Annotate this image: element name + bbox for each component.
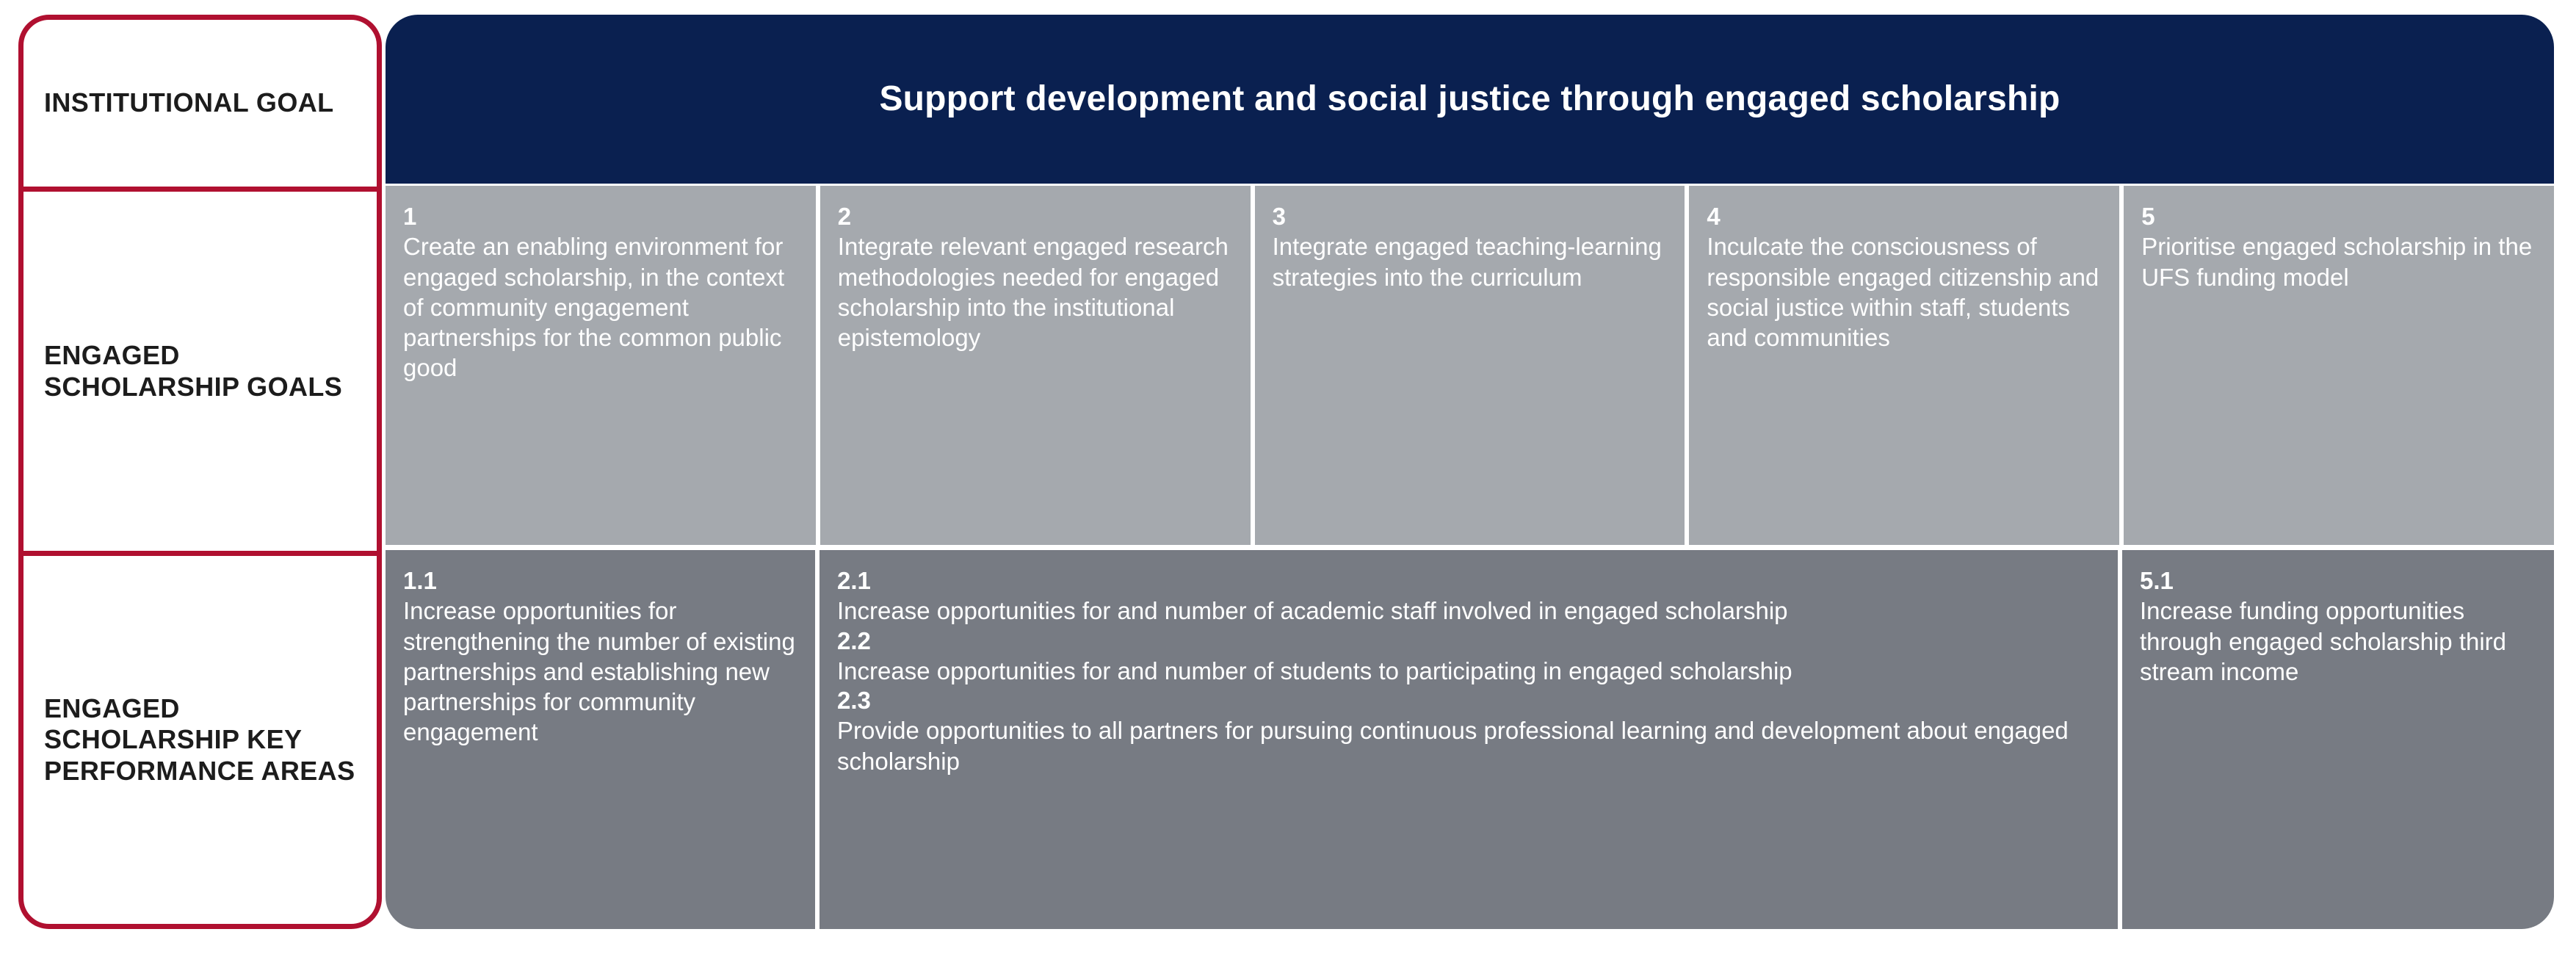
row-label-divider-bottom [18, 551, 382, 556]
kpa-description-5-1: Increase funding opportunities through e… [2140, 596, 2538, 687]
kpa-item-5-1: 5.1 Increase funding opportunities throu… [2140, 566, 2538, 687]
goal-number-4: 4 [1707, 202, 2103, 231]
goal-number-5: 5 [2141, 202, 2538, 231]
engaged-scholarship-framework-diagram: INSTITUTIONAL GOAL ENGAGED SCHOLARSHIP G… [0, 0, 2576, 954]
engaged-scholarship-goals-row: 1 Create an enabling environment for eng… [386, 186, 2554, 545]
row-label-column: INSTITUTIONAL GOAL ENGAGED SCHOLARSHIP G… [18, 15, 382, 929]
kpa-item-1-1: 1.1 Increase opportunities for strengthe… [403, 566, 799, 748]
kpa-description-1-1: Increase opportunities for strengthening… [403, 596, 799, 747]
goal-description-5: Prioritise engaged scholarship in the UF… [2141, 231, 2538, 292]
kpa-item-2-1: 2.1 Increase opportunities for and numbe… [837, 566, 2102, 626]
row-label-institutional-goal-text: INSTITUTIONAL GOAL [23, 87, 343, 118]
row-label-divider-top [18, 187, 382, 192]
goal-cell-2: 2 Integrate relevant engaged research me… [820, 186, 1251, 545]
framework-content-panel: Support development and social justice t… [386, 15, 2554, 929]
kpa-description-2-3: Provide opportunities to all partners fo… [837, 715, 2102, 776]
engaged-scholarship-kpa-row: 1.1 Increase opportunities for strengthe… [386, 550, 2554, 929]
kpa-number-2-3: 2.3 [837, 686, 2102, 715]
kpa-description-2-2: Increase opportunities for and number of… [837, 656, 2102, 686]
row-label-engaged-scholarship-kpas: ENGAGED SCHOLARSHIP KEY PERFORMANCE AREA… [23, 556, 377, 924]
row-label-column-inner: INSTITUTIONAL GOAL ENGAGED SCHOLARSHIP G… [23, 20, 377, 924]
goal-number-3: 3 [1273, 202, 1669, 231]
kpa-description-2-1: Increase opportunities for and number of… [837, 596, 2102, 626]
kpa-item-2-3: 2.3 Provide opportunities to all partner… [837, 686, 2102, 776]
goal-number-2: 2 [838, 202, 1234, 231]
kpa-cell-group-5: 5.1 Increase funding opportunities throu… [2122, 550, 2554, 929]
institutional-goal-banner: Support development and social justice t… [386, 15, 2554, 184]
goal-cell-1: 1 Create an enabling environment for eng… [386, 186, 816, 545]
kpa-item-2-2: 2.2 Increase opportunities for and numbe… [837, 626, 2102, 687]
kpa-cell-group-1: 1.1 Increase opportunities for strengthe… [386, 550, 815, 929]
row-label-institutional-goal: INSTITUTIONAL GOAL [23, 20, 377, 187]
goal-cell-4: 4 Inculcate the consciousness of respons… [1689, 186, 2119, 545]
goal-description-1: Create an enabling environment for engag… [403, 231, 800, 383]
kpa-number-1-1: 1.1 [403, 566, 799, 596]
kpa-number-2-1: 2.1 [837, 566, 2102, 596]
goal-description-4: Inculcate the consciousness of responsib… [1707, 231, 2103, 353]
institutional-goal-title: Support development and social justice t… [850, 80, 2089, 119]
kpa-number-2-2: 2.2 [837, 626, 2102, 656]
row-label-engaged-scholarship-kpas-text: ENGAGED SCHOLARSHIP KEY PERFORMANCE AREA… [23, 693, 377, 787]
kpa-number-5-1: 5.1 [2140, 566, 2538, 596]
goal-cell-3: 3 Integrate engaged teaching-learning st… [1255, 186, 1685, 545]
kpa-cell-group-2: 2.1 Increase opportunities for and numbe… [820, 550, 2118, 929]
goal-description-3: Integrate engaged teaching-learning stra… [1273, 231, 1669, 292]
row-label-engaged-scholarship-goals-text: ENGAGED SCHOLARSHIP GOALS [23, 340, 377, 402]
goal-number-1: 1 [403, 202, 800, 231]
row-label-engaged-scholarship-goals: ENGAGED SCHOLARSHIP GOALS [23, 192, 377, 551]
goal-cell-5: 5 Prioritise engaged scholarship in the … [2124, 186, 2554, 545]
goal-description-2: Integrate relevant engaged research meth… [838, 231, 1234, 353]
